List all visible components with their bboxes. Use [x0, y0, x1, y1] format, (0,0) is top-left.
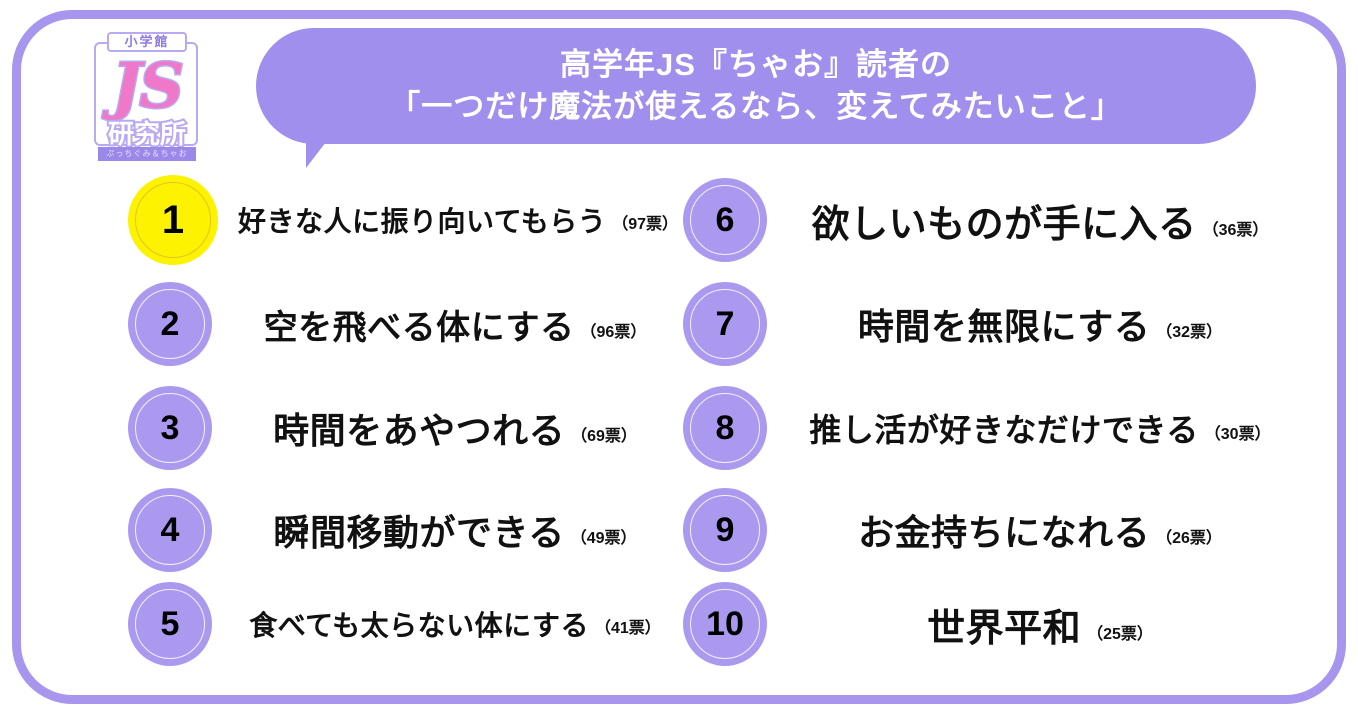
- rank-badge-9: 9: [683, 488, 767, 572]
- rank-label-wrap-7: 時間を無限にする （32票）: [767, 298, 1303, 350]
- logo-institute-text: 研究所: [88, 120, 206, 148]
- rank-badge-8: 8: [683, 386, 767, 470]
- rank-votes-6: （36票）: [1203, 216, 1269, 240]
- title-speech-bubble: 高学年JS『ちゃお』読者の 「一つだけ魔法が使えるなら、変えてみたいこと」: [256, 28, 1256, 144]
- rank-number-7: 7: [716, 307, 735, 341]
- rank-label-3: 時間をあやつれる: [273, 402, 565, 454]
- rank-item-1: 1 好きな人に振り向いてもらう （97票）: [128, 168, 688, 272]
- rank-badge-10: 10: [683, 582, 767, 666]
- ranking-column-right: 6 欲しいものが手に入る （36票） 7 時間を無限にする （32票） 8 推し…: [683, 168, 1303, 688]
- rank-number-3: 3: [161, 411, 180, 445]
- rank-label-4: 瞬間移動ができる: [273, 504, 564, 556]
- page-title-line-2: 「一つだけ魔法が使えるなら、変えてみたいこと」: [389, 86, 1123, 128]
- rank-votes-8: （30票）: [1205, 420, 1271, 444]
- rank-label-wrap-9: お金持ちになれる （26票）: [767, 504, 1303, 556]
- ranking-column-left: 1 好きな人に振り向いてもらう （97票） 2 空を飛べる体にする （96票） …: [128, 168, 688, 688]
- rank-label-1: 好きな人に振り向いてもらう: [238, 200, 606, 240]
- rank-votes-10: （25票）: [1087, 620, 1153, 644]
- ranking-list: 1 好きな人に振り向いてもらう （97票） 2 空を飛べる体にする （96票） …: [0, 168, 1358, 688]
- rank-label-wrap-2: 空を飛べる体にする （96票）: [212, 300, 688, 349]
- rank-badge-2: 2: [128, 282, 212, 366]
- rank-number-9: 9: [716, 513, 735, 547]
- rank-badge-7: 7: [683, 282, 767, 366]
- rank-number-1: 1: [162, 200, 184, 240]
- rank-votes-5: （41票）: [595, 614, 661, 638]
- logo-ribbon-text: ぷっちぐみ＆ちゃお: [98, 147, 196, 161]
- rank-label-wrap-1: 好きな人に振り向いてもらう （97票）: [218, 200, 688, 240]
- rank-votes-4: （49票）: [571, 524, 637, 548]
- rank-item-5: 5 食べても太らない体にする （41票）: [128, 572, 688, 676]
- rank-label-8: 推し活が好きなだけできる: [809, 405, 1198, 451]
- rank-number-8: 8: [716, 411, 735, 445]
- speech-bubble-tail: [306, 142, 342, 168]
- title-text-block: 高学年JS『ちゃお』読者の 「一つだけ魔法が使えるなら、変えてみたいこと」: [256, 28, 1256, 144]
- rank-label-10: 世界平和: [927, 597, 1081, 652]
- rank-label-wrap-4: 瞬間移動ができる （49票）: [212, 504, 688, 556]
- rank-votes-3: （69票）: [571, 422, 637, 446]
- rank-item-7: 7 時間を無限にする （32票）: [683, 272, 1303, 376]
- rank-number-5: 5: [161, 607, 180, 641]
- rank-number-6: 6: [716, 203, 735, 237]
- page-title-line-1: 高学年JS『ちゃお』読者の: [560, 44, 952, 86]
- rank-label-wrap-5: 食べても太らない体にする （41票）: [212, 604, 688, 644]
- rank-votes-2: （96票）: [581, 318, 647, 342]
- rank-badge-6: 6: [683, 178, 767, 262]
- rank-number-4: 4: [161, 513, 180, 547]
- rank-item-6: 6 欲しいものが手に入る （36票）: [683, 168, 1303, 272]
- rank-label-6: 欲しいものが手に入る: [812, 193, 1197, 248]
- rank-votes-9: （26票）: [1156, 524, 1222, 548]
- rank-label-2: 空を飛べる体にする: [264, 300, 575, 349]
- rank-label-wrap-3: 時間をあやつれる （69票）: [212, 402, 688, 454]
- js-laboratory-logo: 小学館 JS 研究所 ぷっちぐみ＆ちゃお: [88, 28, 206, 160]
- rank-badge-5: 5: [128, 582, 212, 666]
- rank-item-10: 10 世界平和 （25票）: [683, 572, 1303, 676]
- rank-label-wrap-6: 欲しいものが手に入る （36票）: [767, 193, 1303, 248]
- rank-label-9: お金持ちになれる: [858, 504, 1150, 556]
- rank-label-wrap-8: 推し活が好きなだけできる （30票）: [767, 405, 1303, 451]
- rank-badge-1: 1: [128, 175, 218, 265]
- rank-item-2: 2 空を飛べる体にする （96票）: [128, 272, 688, 376]
- rank-label-5: 食べても太らない体にする: [249, 604, 589, 644]
- rank-badge-3: 3: [128, 386, 212, 470]
- rank-votes-7: （32票）: [1156, 318, 1222, 342]
- rank-label-7: 時間を無限にする: [858, 298, 1150, 350]
- rank-label-wrap-10: 世界平和 （25票）: [767, 597, 1303, 652]
- rank-item-9: 9 お金持ちになれる （26票）: [683, 478, 1303, 582]
- rank-item-3: 3 時間をあやつれる （69票）: [128, 376, 688, 480]
- rank-number-10: 10: [706, 607, 744, 641]
- rank-item-8: 8 推し活が好きなだけできる （30票）: [683, 376, 1303, 480]
- rank-number-2: 2: [161, 307, 180, 341]
- logo-js-mark: JS: [88, 50, 206, 122]
- rank-badge-4: 4: [128, 488, 212, 572]
- rank-item-4: 4 瞬間移動ができる （49票）: [128, 478, 688, 582]
- rank-votes-1: （97票）: [612, 210, 678, 234]
